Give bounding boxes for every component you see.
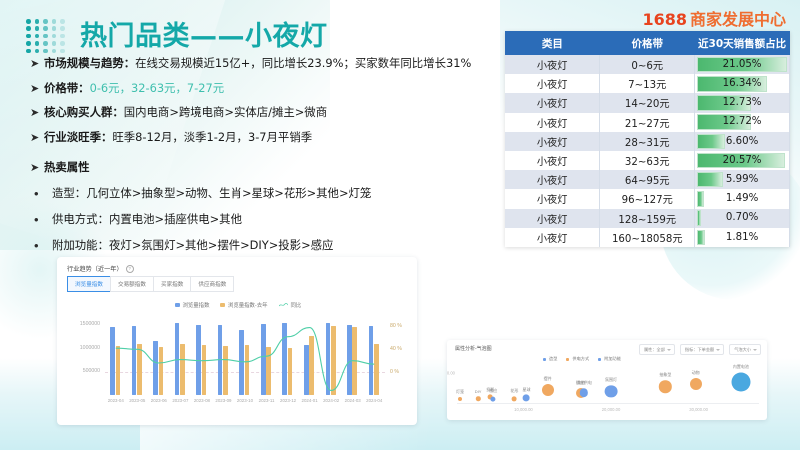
legend-label: 附加功能 (604, 356, 621, 362)
cell-share-label: 1.49% (697, 191, 787, 207)
table-column-header: 类目 (505, 31, 600, 55)
cell-share: 1.81% (695, 228, 790, 247)
bullet-dot-icon: • (30, 212, 52, 227)
cell-share-label: 12.73% (697, 95, 787, 111)
bubble-x-tick: 10,000.00 (514, 407, 533, 412)
bullet-label: 附加功能： (52, 238, 109, 252)
cell-price-band: 7~13元 (600, 74, 695, 93)
bubble-point[interactable] (523, 395, 530, 402)
bullet-item: ➤价格带：0-6元，32-63元，7-27元 (30, 81, 500, 96)
legend-label: 浏览量指数-去年 (228, 301, 268, 309)
bullet-marker-icon: ➤ (30, 105, 44, 120)
cell-price-band: 14~20元 (600, 93, 695, 112)
cell-price-band: 21~27元 (600, 113, 695, 132)
y2-axis-tick: 0 % (390, 369, 399, 375)
bubble-point[interactable] (458, 397, 462, 401)
cell-category: 小夜灯 (505, 228, 600, 247)
x-axis-tick: 2024-01 (302, 398, 318, 403)
brand-number: 1688 (642, 10, 687, 29)
bullet-label: 造型： (52, 186, 86, 200)
cell-category: 小夜灯 (505, 189, 600, 208)
trend-plot-area: 1500000100000050000080 %40 %0 %2023-0420… (105, 315, 385, 395)
cell-share-label: 6.60% (697, 134, 787, 150)
data-bar: 6.60% (697, 134, 787, 150)
bullet-text: 供电方式：内置电池>插座供电>其他 (52, 212, 242, 227)
trend-chart-card: 行业趋势（近一年）? 浏览量指数交易额指数买家指数供应商指数 浏览量指数浏览量指… (57, 257, 417, 425)
cell-share: 16.34% (695, 74, 790, 93)
legend-item[interactable]: 浏览量指数-去年 (220, 301, 267, 309)
cell-share: 1.49% (695, 189, 790, 208)
legend-label: 造型 (549, 356, 557, 362)
x-axis-tick: 2023-11 (259, 398, 275, 403)
legend-swatch (175, 303, 180, 308)
table-row: 小夜灯160~18058元1.81% (505, 228, 790, 247)
bubble-controls[interactable]: 属性：全部指标：下单金额气泡大小 (639, 344, 761, 355)
bullet-marker-icon: ➤ (30, 81, 44, 96)
table-row: 小夜灯32~63元20.57% (505, 151, 790, 170)
data-bar: 21.05% (697, 57, 787, 73)
y-axis-tick: 500000 (83, 368, 100, 374)
trend-title-text: 行业趋势（近一年） (67, 266, 123, 273)
bubble-point[interactable] (605, 385, 618, 398)
legend-line-icon (279, 303, 288, 307)
bullet-dot-icon: • (30, 238, 52, 253)
bubble-x-axis (457, 403, 759, 404)
bullet-item: ➤行业淡旺季：旺季8-12月，淡季1-2月，3-7月平销季 (30, 130, 500, 145)
bubble-point[interactable] (512, 396, 517, 401)
bubble-point[interactable] (491, 396, 496, 401)
x-axis-tick: 2023-05 (129, 398, 145, 403)
cell-category: 小夜灯 (505, 113, 600, 132)
bullet-label: 行业淡旺季： (44, 130, 112, 144)
bullet-dot-icon: • (30, 186, 52, 201)
yoy-line-series (105, 315, 385, 395)
cell-share-label: 21.05% (697, 57, 787, 73)
bubble-label: 灯笼 (456, 389, 464, 395)
bubble-chart-title: 属性分析-气泡图 (455, 345, 492, 352)
price-table-card: 类目价格带近30天销售额占比 小夜灯0~6元21.05%小夜灯7~13元16.3… (505, 31, 790, 247)
cell-share: 20.57% (695, 151, 790, 170)
legend-swatch (566, 358, 569, 361)
bubble-label: 动物 (692, 370, 700, 376)
x-axis-tick: 2023-08 (194, 398, 210, 403)
cell-share-label: 5.99% (697, 172, 787, 188)
bubble-label: 摆件 (544, 376, 552, 382)
legend-label: 同比 (291, 301, 302, 309)
cell-share: 5.99% (695, 170, 790, 189)
bullet-value: 几何立体>抽象型>动物、生肖>星球>花形>其他>灯笼 (86, 186, 371, 200)
bubble-point[interactable] (690, 378, 702, 390)
table-row: 小夜灯96~127元1.49% (505, 189, 790, 208)
bullet-value: 0-6元，32-63元，7-27元 (90, 81, 225, 95)
cell-share: 0.70% (695, 209, 790, 228)
cell-price-band: 28~31元 (600, 132, 695, 151)
cell-category: 小夜灯 (505, 151, 600, 170)
trend-legend: 浏览量指数浏览量指数-去年同比 (175, 301, 301, 309)
bubble-label: 插座供电 (576, 380, 592, 386)
bubble-plot-area: 10,000.0020,000.0030,000.0010.00灯笼DIY投影感… (457, 366, 759, 404)
bubble-point[interactable] (476, 396, 480, 400)
bullet-value: 旺季8-12月，淡季1-2月，3-7月平销季 (112, 130, 312, 144)
bubble-y-tick: 10.00 (447, 370, 455, 375)
bullet-item: ➤核心购买人群：国内电商>跨境电商>实体店/摊主>微商 (30, 105, 500, 120)
x-axis-tick: 2023-06 (151, 398, 167, 403)
bullet-value: 内置电池>插座供电>其他 (109, 212, 242, 226)
tab-2[interactable]: 买家指数 (153, 276, 190, 292)
dropdown-1[interactable]: 指标：下单金额 (680, 344, 724, 355)
cell-share: 21.05% (695, 55, 790, 74)
bullet-text: 市场规模与趋势：在线交易规模近15亿+，同比增长23.9%；买家数年同比增长31… (44, 56, 471, 71)
trend-chart-title: 行业趋势（近一年）? (67, 264, 134, 273)
bullet-value: 夜灯>氛围灯>其他>摆件>DIY>投影>感应 (109, 238, 333, 252)
cell-share: 6.60% (695, 132, 790, 151)
y2-axis-tick: 40 % (390, 346, 402, 352)
legend-label: 浏览量指数 (183, 301, 210, 309)
data-bar: 12.73% (697, 95, 787, 111)
legend-item[interactable]: 附加功能 (598, 356, 621, 362)
y2-axis-tick: 80 % (390, 323, 402, 329)
legend-item[interactable]: 供电方式 (566, 356, 589, 362)
data-bar: 1.49% (697, 191, 787, 207)
bullet-label: 市场规模与趋势： (44, 56, 135, 70)
table-header-row: 类目价格带近30天销售额占比 (505, 31, 790, 55)
table-row: 小夜灯28~31元6.60% (505, 132, 790, 151)
cell-category: 小夜灯 (505, 55, 600, 74)
bullet-heading: ➤热卖属性 (30, 160, 500, 175)
bullet-text: 附加功能：夜灯>氛围灯>其他>摆件>DIY>投影>感应 (52, 238, 333, 253)
data-bar: 20.57% (697, 153, 787, 169)
legend-label: 供电方式 (572, 356, 589, 362)
cell-price-band: 32~63元 (600, 151, 695, 170)
x-axis-tick: 2024-04 (366, 398, 382, 403)
bullet-label: 核心购买人群： (44, 105, 124, 119)
bullet-label: 价格带： (44, 81, 90, 95)
data-bar: 1.81% (697, 230, 787, 246)
cell-share: 12.72% (695, 113, 790, 132)
table-column-header: 近30天销售额占比 (695, 31, 790, 55)
table-column-header: 价格带 (600, 31, 695, 55)
legend-swatch (220, 303, 225, 308)
x-axis-tick: 2024-03 (345, 398, 361, 403)
cell-share-label: 0.70% (697, 210, 787, 226)
tab-3[interactable]: 供应商指数 (190, 276, 234, 292)
cell-share-label: 12.72% (697, 114, 787, 130)
cell-share-label: 16.34% (697, 76, 787, 92)
info-icon[interactable]: ? (126, 265, 134, 273)
price-table: 类目价格带近30天销售额占比 小夜灯0~6元21.05%小夜灯7~13元16.3… (505, 31, 790, 247)
bullet-value: 在线交易规模近15亿+，同比增长23.9%；买家数年同比增长31% (135, 56, 471, 70)
cell-category: 小夜灯 (505, 209, 600, 228)
legend-item[interactable]: 造型 (543, 356, 557, 362)
dropdown-2[interactable]: 气泡大小 (729, 344, 761, 355)
cell-category: 小夜灯 (505, 132, 600, 151)
bubble-x-tick: 30,000.00 (689, 407, 708, 412)
bubble-chart-card: 属性分析-气泡图 属性：全部指标：下单金额气泡大小 造型供电方式附加功能 10,… (447, 340, 767, 420)
bubble-legend: 造型供电方式附加功能 (543, 356, 621, 362)
trend-tab-bar[interactable]: 浏览量指数交易额指数买家指数供应商指数 (67, 276, 234, 292)
x-axis-tick: 2023-09 (215, 398, 231, 403)
bullet-list-secondary: ➤热卖属性•造型：几何立体>抽象型>动物、生肖>星球>花形>其他>灯笼•供电方式… (30, 160, 500, 264)
brand-logo: 1688商家发展中心 (642, 6, 786, 30)
bubble-point[interactable] (580, 388, 588, 396)
x-axis-tick: 2023-12 (280, 398, 296, 403)
cell-price-band: 96~127元 (600, 189, 695, 208)
bubble-label: 星球 (522, 387, 530, 393)
bubble-label: 感应 (489, 388, 497, 394)
legend-item[interactable]: 同比 (279, 301, 302, 309)
bubble-label: 抽象型 (659, 372, 671, 378)
table-row: 小夜灯7~13元16.34% (505, 74, 790, 93)
data-bar: 0.70% (697, 210, 787, 226)
y-axis-tick: 1000000 (80, 345, 100, 351)
cell-price-band: 0~6元 (600, 55, 695, 74)
tab-1[interactable]: 交易额指数 (110, 276, 153, 292)
bullet-item: ➤市场规模与趋势：在线交易规模近15亿+，同比增长23.9%；买家数年同比增长3… (30, 56, 500, 71)
data-bar: 12.72% (697, 114, 787, 130)
bubble-x-tick: 20,000.00 (602, 407, 621, 412)
page-title: 热门品类——小夜灯 (80, 14, 328, 53)
x-axis-tick: 2023-07 (172, 398, 188, 403)
bubble-label: 花形 (510, 388, 518, 394)
legend-swatch (543, 358, 546, 361)
bullet-item: •供电方式：内置电池>插座供电>其他 (30, 212, 500, 227)
table-row: 小夜灯14~20元12.73% (505, 93, 790, 112)
cell-share: 12.73% (695, 93, 790, 112)
cell-share-label: 20.57% (697, 153, 787, 169)
cell-share-label: 1.81% (697, 230, 787, 246)
legend-item[interactable]: 浏览量指数 (175, 301, 209, 309)
table-row: 小夜灯64~95元5.99% (505, 170, 790, 189)
table-row: 小夜灯128~159元0.70% (505, 209, 790, 228)
tab-0[interactable]: 浏览量指数 (67, 276, 110, 292)
bubble-point[interactable] (659, 380, 671, 392)
bullet-item: •附加功能：夜灯>氛围灯>其他>摆件>DIY>投影>感应 (30, 238, 500, 253)
bullet-text: 造型：几何立体>抽象型>动物、生肖>星球>花形>其他>灯笼 (52, 186, 371, 201)
brand-name: 商家发展中心 (690, 10, 786, 29)
cell-price-band: 160~18058元 (600, 228, 695, 247)
bubble-point[interactable] (542, 384, 554, 396)
table-row: 小夜灯0~6元21.05% (505, 55, 790, 74)
bullet-label: 供电方式： (52, 212, 109, 226)
bubble-point[interactable] (731, 372, 750, 391)
bubble-label: 内置电池 (733, 364, 749, 370)
bubble-label: DIY (475, 389, 482, 394)
cell-price-band: 64~95元 (600, 170, 695, 189)
bullet-heading-text: 热卖属性 (44, 160, 90, 175)
x-axis-tick: 2023-04 (108, 398, 124, 403)
bullet-text: 核心购买人群：国内电商>跨境电商>实体店/摊主>微商 (44, 105, 327, 120)
bullet-value: 国内电商>跨境电商>实体店/摊主>微商 (124, 105, 327, 119)
table-body: 小夜灯0~6元21.05%小夜灯7~13元16.34%小夜灯14~20元12.7… (505, 55, 790, 247)
bullet-text: 行业淡旺季：旺季8-12月，淡季1-2月，3-7月平销季 (44, 130, 312, 145)
data-bar: 16.34% (697, 76, 787, 92)
cell-price-band: 128~159元 (600, 209, 695, 228)
dot-grid-icon (26, 19, 71, 55)
bullet-marker-icon: ➤ (30, 56, 44, 71)
bullet-list-primary: ➤市场规模与趋势：在线交易规模近15亿+，同比增长23.9%；买家数年同比增长3… (30, 56, 500, 154)
x-axis-tick: 2024-02 (323, 398, 339, 403)
bubble-label: 氛围灯 (605, 377, 617, 383)
bullet-text: 价格带：0-6元，32-63元，7-27元 (44, 81, 224, 96)
x-axis-tick: 2023-10 (237, 398, 253, 403)
data-bar: 5.99% (697, 172, 787, 188)
legend-swatch (598, 358, 601, 361)
bullet-item: •造型：几何立体>抽象型>动物、生肖>星球>花形>其他>灯笼 (30, 186, 500, 201)
cell-category: 小夜灯 (505, 74, 600, 93)
dropdown-0[interactable]: 属性：全部 (639, 344, 675, 355)
cell-category: 小夜灯 (505, 170, 600, 189)
bullet-marker-icon: ➤ (30, 130, 44, 145)
y-axis-tick: 1500000 (80, 321, 100, 327)
table-row: 小夜灯21~27元12.72% (505, 113, 790, 132)
bullet-marker-icon: ➤ (30, 160, 44, 175)
slide-root: 热门品类——小夜灯 1688商家发展中心 ➤市场规模与趋势：在线交易规模近15亿… (0, 0, 800, 450)
cell-category: 小夜灯 (505, 93, 600, 112)
